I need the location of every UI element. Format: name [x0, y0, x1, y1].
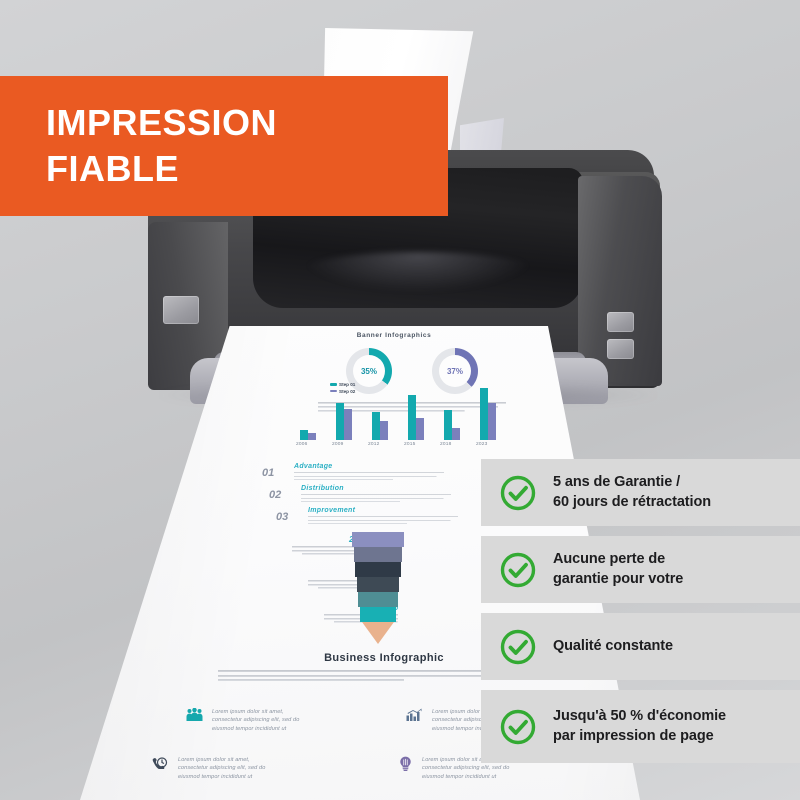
step-row-03: 03Improvement	[276, 506, 482, 528]
donut-1-value: 35%	[346, 348, 392, 394]
bar-step-02	[416, 418, 424, 440]
bar-step-01	[408, 395, 416, 440]
feature-item-3[interactable]: Qualité constante	[481, 613, 800, 680]
bar-step-01	[444, 410, 452, 440]
funnel-slice	[358, 592, 397, 607]
numbered-steps-list: 01Advantage02Distribution03Improvement	[262, 462, 482, 528]
promo-image: Banner Infographics 35% 37% Step 01 Step…	[0, 0, 800, 800]
check-circle-icon	[499, 551, 537, 589]
step-body-lines	[308, 516, 458, 525]
info-icon-item-text: Lorem ipsum dolor sit amet, consectetur …	[178, 756, 310, 781]
lightbulb-idea-icon	[398, 756, 413, 774]
feature-item-text: Jusqu'à 50 % d'économie par impression d…	[553, 707, 726, 745]
funnel-pyramid-graphic	[352, 532, 406, 652]
feature-item-text: Qualité constante	[553, 637, 673, 656]
step-number: 02	[269, 489, 281, 501]
step-number: 03	[276, 511, 288, 523]
funnel-stat-value: 24%	[216, 534, 366, 544]
feature-item-text: Aucune perte de garantie pour votre	[553, 550, 683, 588]
bar-step-02	[344, 409, 352, 440]
funnel-slice	[354, 547, 403, 562]
business-paragraph-lines	[218, 670, 518, 683]
bar-step-01	[336, 403, 344, 440]
donut-chart-2: 37%	[432, 348, 478, 394]
bar-group	[300, 384, 318, 440]
step-title: Improvement	[308, 507, 355, 514]
x-tick-label: 2015	[404, 442, 415, 447]
donut-2-value: 37%	[432, 348, 478, 394]
headline-text: IMPRESSION FIABLE	[46, 100, 277, 192]
feature-item-text: 5 ans de Garantie / 60 jours de rétracta…	[553, 473, 711, 511]
infographic-title: Banner Infographics	[0, 332, 794, 339]
step-title: Distribution	[301, 485, 344, 492]
bar-chart	[296, 384, 512, 440]
funnel-stats-list: 24%26%17%	[216, 534, 366, 636]
x-tick-label: 2009	[332, 442, 343, 447]
info-icon-item: Lorem ipsum dolor sit amet, consectetur …	[152, 756, 310, 781]
bar-step-02	[452, 428, 460, 440]
funnel-slice	[352, 532, 404, 547]
headline-banner: IMPRESSION FIABLE	[0, 76, 448, 216]
funnel-slice	[355, 562, 401, 577]
feature-item-1[interactable]: 5 ans de Garantie / 60 jours de rétracta…	[481, 459, 800, 526]
printer-gloss-highlight	[300, 252, 536, 292]
bar-step-02	[308, 433, 316, 440]
printer-button-right-top[interactable]	[607, 312, 634, 332]
info-icon-item-text: Lorem ipsum dolor sit amet, consectetur …	[212, 708, 334, 733]
bar-step-01	[300, 430, 308, 440]
bar-group	[408, 384, 426, 440]
bar-step-01	[372, 412, 380, 440]
bar-group	[480, 384, 498, 440]
x-tick-label: 2023	[476, 442, 487, 447]
x-tick-label: 2012	[368, 442, 379, 447]
clock-phone-icon	[152, 756, 169, 772]
bar-chart-growth-icon	[406, 708, 423, 724]
bar-step-02	[488, 403, 496, 440]
donut-chart-1: 35%	[346, 348, 392, 394]
info-icon-item: Lorem ipsum dolor sit amet, consectetur …	[186, 708, 334, 733]
bar-step-02	[380, 421, 388, 440]
check-circle-icon	[499, 628, 537, 666]
step-title: Advantage	[294, 463, 333, 470]
step-row-02: 02Distribution	[269, 484, 482, 506]
bar-step-01	[480, 388, 488, 440]
check-circle-icon	[499, 708, 537, 746]
step-body-lines	[294, 472, 444, 481]
check-circle-icon	[499, 474, 537, 512]
x-tick-label: 2006	[296, 442, 307, 447]
people-group-icon	[186, 708, 203, 724]
feature-item-4[interactable]: Jusqu'à 50 % d'économie par impression d…	[481, 690, 800, 763]
printer-button-left[interactable]	[163, 296, 199, 324]
funnel-slice	[360, 607, 396, 622]
funnel-slice	[357, 577, 399, 592]
x-tick-label: 2018	[440, 442, 451, 447]
step-number: 01	[262, 467, 274, 479]
step-body-lines	[301, 494, 451, 503]
funnel-pencil-tip	[362, 622, 394, 644]
funnel-stat: 24%	[216, 534, 366, 556]
printer-button-right-bottom[interactable]	[607, 339, 634, 359]
step-row-01: 01Advantage	[262, 462, 482, 484]
feature-item-2[interactable]: Aucune perte de garantie pour votre	[481, 536, 800, 603]
